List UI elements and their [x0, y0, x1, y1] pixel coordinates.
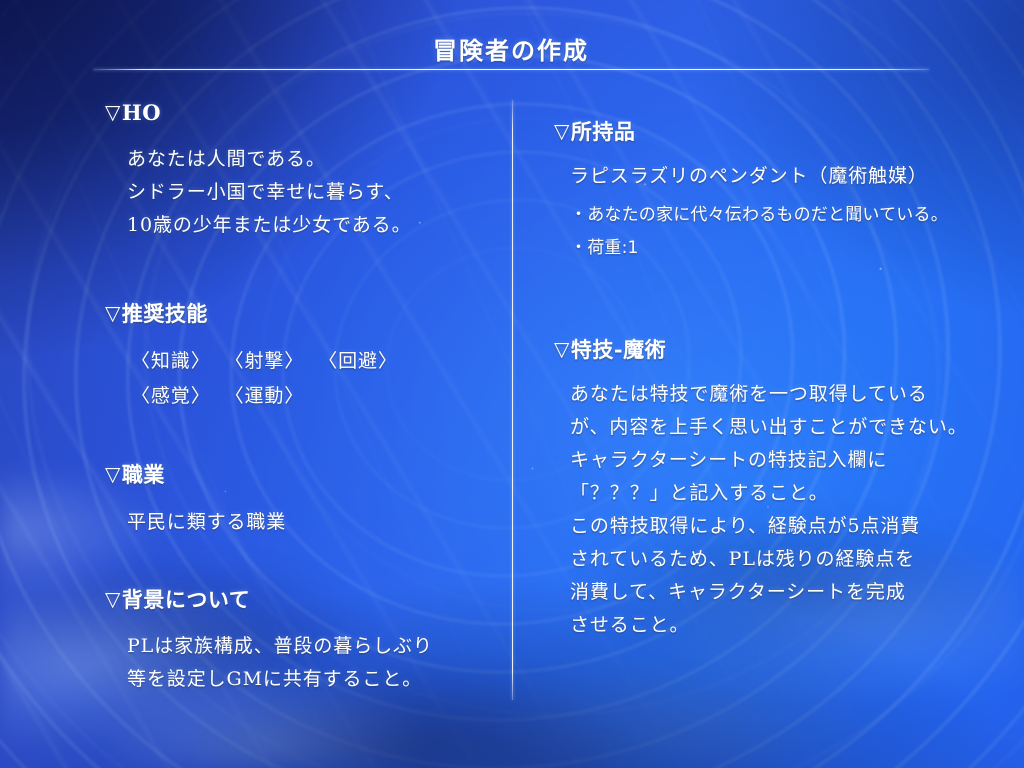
section-occupation-heading-label: 職業 — [122, 462, 165, 487]
section-ho-heading-label: HO — [122, 100, 161, 125]
section-background-line-1: PLは家族構成、普段の暮らしぶり — [127, 630, 433, 663]
left-column: ▽HO あなたは人間である。 シドラー小国で幸せに暮らす、 10歳の少年または少… — [0, 0, 512, 768]
section-special-magic: ▽特技-魔術 あなたは特技で魔術を一つ取得している が、内容を上手く思い出すこと… — [554, 334, 968, 642]
section-ho-line-3: 10歳の少年または少女である。 — [127, 209, 412, 242]
special-magic-line-6: されているため、PLは残りの経験点を — [570, 543, 968, 576]
section-occupation-heading: ▽職業 — [105, 459, 286, 489]
skill-row-1: 〈知識〉〈射撃〉〈回避〉 — [131, 344, 412, 379]
section-possessions: ▽所持品 ラピスラズリのペンダント（魔術触媒） ・あなたの家に代々伝わるものだと… — [554, 116, 948, 265]
triangle-down-icon: ▽ — [105, 462, 121, 486]
triangle-down-icon: ▽ — [105, 587, 121, 611]
skill-chip: 〈知識〉 — [131, 344, 211, 379]
section-occupation-line-1: 平民に類する職業 — [127, 506, 286, 539]
skill-chip: 〈射撃〉 — [225, 344, 305, 379]
special-magic-line-7: 消費して、キャラクターシートを完成 — [570, 576, 968, 609]
triangle-down-icon: ▽ — [554, 337, 570, 361]
section-possessions-heading-label: 所持品 — [571, 119, 636, 144]
section-special-magic-heading-label: 特技-魔術 — [571, 337, 666, 362]
possession-item-name: ラピスラズリのペンダント（魔術触媒） — [570, 160, 948, 193]
section-ho-line-1: あなたは人間である。 — [127, 143, 412, 176]
special-magic-line-8: させること。 — [570, 609, 968, 642]
section-recommended-skills-heading-label: 推奨技能 — [122, 301, 208, 326]
possession-bullet-1: ・あなたの家に代々伝わるものだと聞いている。 — [570, 199, 948, 232]
possession-bullet-2: ・荷重:1 — [570, 232, 948, 265]
section-special-magic-heading: ▽特技-魔術 — [554, 334, 968, 364]
section-ho-heading: ▽HO — [105, 100, 412, 125]
special-magic-line-3: キャラクターシートの特技記入欄に — [570, 444, 968, 477]
section-ho: ▽HO あなたは人間である。 シドラー小国で幸せに暮らす、 10歳の少年または少… — [105, 100, 412, 242]
slide-root: 冒険者の作成 ▽HO あなたは人間である。 シドラー小国で幸せに暮らす、 10歳… — [0, 0, 1024, 768]
section-background-line-2: 等を設定しGMに共有すること。 — [127, 663, 433, 696]
section-background: ▽背景について PLは家族構成、普段の暮らしぶり 等を設定しGMに共有すること。 — [105, 584, 433, 696]
section-occupation: ▽職業 平民に類する職業 — [105, 459, 286, 539]
section-recommended-skills: ▽推奨技能 〈知識〉〈射撃〉〈回避〉 〈感覚〉〈運動〉 — [105, 298, 412, 414]
right-column: ▽所持品 ラピスラズリのペンダント（魔術触媒） ・あなたの家に代々伝わるものだと… — [512, 0, 1024, 768]
section-ho-line-2: シドラー小国で幸せに暮らす、 — [127, 176, 412, 209]
skill-chip: 〈回避〉 — [318, 344, 398, 379]
special-magic-line-4: 「？？？」と記入すること。 — [570, 477, 968, 510]
skill-chip: 〈運動〉 — [225, 379, 305, 414]
special-magic-line-5: この特技取得により、経験点が5点消費 — [570, 510, 968, 543]
special-magic-line-2: が、内容を上手く思い出すことができない。 — [570, 411, 968, 444]
skill-chip: 〈感覚〉 — [131, 379, 211, 414]
section-possessions-heading: ▽所持品 — [554, 116, 948, 146]
skill-row-2: 〈感覚〉〈運動〉 — [131, 379, 412, 414]
triangle-down-icon: ▽ — [105, 100, 121, 124]
slide-content: 冒険者の作成 ▽HO あなたは人間である。 シドラー小国で幸せに暮らす、 10歳… — [0, 0, 1024, 768]
special-magic-line-1: あなたは特技で魔術を一つ取得している — [570, 378, 968, 411]
section-background-heading: ▽背景について — [105, 584, 433, 614]
section-background-heading-label: 背景について — [122, 587, 250, 612]
triangle-down-icon: ▽ — [554, 119, 570, 143]
triangle-down-icon: ▽ — [105, 301, 121, 325]
section-recommended-skills-heading: ▽推奨技能 — [105, 298, 412, 328]
